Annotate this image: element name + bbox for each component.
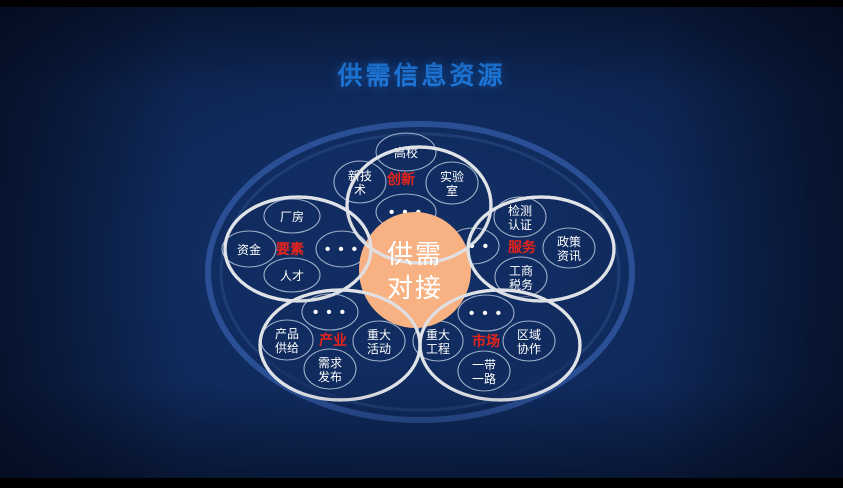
core-label-line1-top: 供需 (387, 239, 443, 269)
bubble-capital-label: 资金 (237, 242, 261, 257)
bubble-new-technology-label-2: 术 (354, 183, 366, 197)
petal-services-title: 服务 (508, 239, 537, 255)
bubble-laboratory-label-2: 室 (446, 183, 458, 198)
petal-industry-title: 产业 (319, 332, 347, 348)
bubble-talent-label: 人才 (280, 269, 304, 283)
core-node[interactable]: 供需 对接 (359, 212, 471, 328)
bubble-policy-information-label-1: 政策 (557, 235, 581, 249)
bubble-testing-certification-label-2: 认证 (508, 218, 532, 232)
bubble-factory-building-label: 厂房 (280, 209, 304, 224)
core-circle (359, 212, 471, 328)
bubble-belt-and-road-label-1: 一带 (472, 358, 496, 372)
supply-demand-flower-diagram: 高校 新技 术 实验 室 • • • 创新 (0, 0, 843, 488)
bubble-demand-release-label-1: 需求 (318, 356, 342, 370)
bubble-major-events-label-2: 活动 (367, 342, 391, 356)
bubble-demand-release-label-2: 发布 (318, 369, 342, 384)
bubble-factors-more-label: • • • (325, 241, 359, 258)
bubble-product-supply-label-1: 产品 (275, 327, 299, 341)
bubble-market-more-label: • • • (469, 305, 503, 322)
bubble-regional-cooperation-label-1: 区域 (517, 328, 541, 342)
bubble-product-supply-label-2: 供给 (275, 341, 299, 355)
petal-factors-title: 要素 (276, 241, 304, 257)
bubble-testing-certification-label-1: 检测 (508, 203, 532, 218)
core-label-line2-top: 对接 (387, 273, 443, 303)
bubble-major-projects-label-2: 工程 (426, 341, 450, 356)
bubble-regional-cooperation-label-2: 协作 (517, 341, 541, 356)
petal-market-title: 市场 (472, 333, 500, 349)
bubble-industry-more-label: • • • (313, 304, 347, 321)
slide-canvas: 供需信息资源 高校 新技 术 实验 室 (0, 0, 843, 488)
bubble-business-tax-label-1: 工商 (509, 263, 533, 278)
bubble-major-projects-label-1: 重大 (426, 328, 450, 342)
bubble-policy-information-label-2: 资讯 (557, 249, 581, 263)
bubble-major-events-label-1: 重大 (367, 328, 391, 342)
petal-innovation-title: 创新 (386, 171, 415, 187)
bubble-belt-and-road-label-2: 一路 (472, 371, 496, 386)
bubble-laboratory-label-1: 实验 (440, 169, 464, 184)
